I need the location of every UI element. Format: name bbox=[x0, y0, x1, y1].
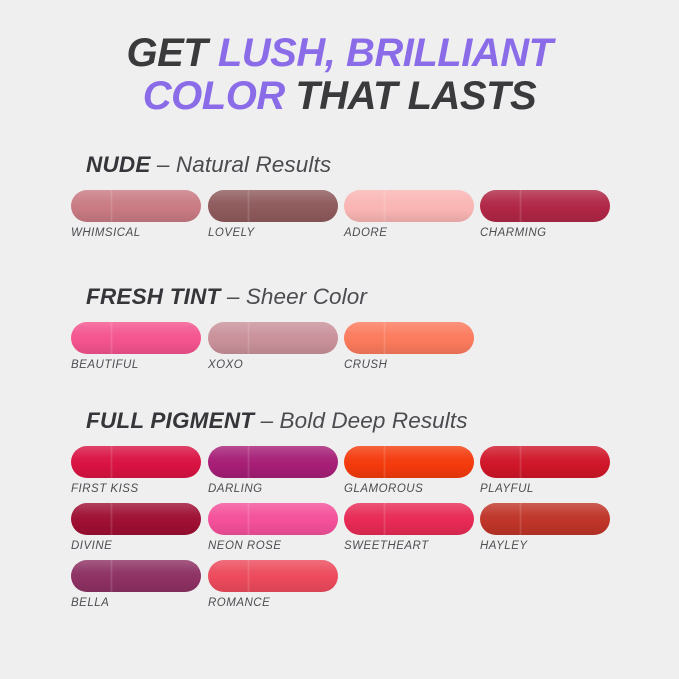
shade-cell[interactable]: GLAMOROUS bbox=[344, 446, 474, 495]
shade-cell[interactable]: NEON ROSE bbox=[208, 503, 338, 552]
shade-name-label: BELLA bbox=[71, 597, 201, 609]
shade-swatch[interactable] bbox=[480, 190, 610, 222]
shade-name-label: NEON ROSE bbox=[208, 540, 338, 552]
shade-section-nude: NUDE – Natural ResultsWHIMSICALLOVELYADO… bbox=[0, 152, 679, 247]
shade-swatch[interactable] bbox=[344, 446, 474, 478]
shade-swatch[interactable] bbox=[208, 446, 338, 478]
shade-cell[interactable]: DIVINE bbox=[71, 503, 201, 552]
page-title-lush-brilliant: LUSH, BRILLIANT bbox=[218, 31, 553, 75]
section-category-label: FRESH TINT bbox=[86, 284, 221, 309]
shade-cell[interactable]: WHIMSICAL bbox=[71, 190, 201, 239]
section-heading: FULL PIGMENT – Bold Deep Results bbox=[0, 408, 679, 434]
page-title-line-2: COLOR THAT LASTS bbox=[0, 75, 679, 118]
shade-section-fresh-tint: FRESH TINT – Sheer ColorBEAUTIFULXOXOCRU… bbox=[0, 284, 679, 379]
shade-swatch[interactable] bbox=[344, 322, 474, 354]
shade-cell[interactable]: PLAYFUL bbox=[480, 446, 610, 495]
shade-swatch[interactable] bbox=[71, 190, 201, 222]
shade-name-label: ADORE bbox=[344, 227, 474, 239]
shade-cell[interactable]: LOVELY bbox=[208, 190, 338, 239]
shade-row: BELLAROMANCE bbox=[0, 560, 679, 617]
page-title-color: COLOR bbox=[143, 74, 285, 118]
shade-name-label: SWEETHEART bbox=[344, 540, 474, 552]
shade-name-label: CRUSH bbox=[344, 359, 474, 371]
shade-swatch[interactable] bbox=[71, 446, 201, 478]
shade-cell[interactable]: XOXO bbox=[208, 322, 338, 371]
shade-name-label: HAYLEY bbox=[480, 540, 610, 552]
section-subtitle-label: – Sheer Color bbox=[221, 284, 367, 309]
shade-cell[interactable]: BEAUTIFUL bbox=[71, 322, 201, 371]
shade-name-label: XOXO bbox=[208, 359, 338, 371]
section-subtitle-label: – Bold Deep Results bbox=[254, 408, 467, 433]
shade-cell[interactable]: ADORE bbox=[344, 190, 474, 239]
shade-swatch[interactable] bbox=[208, 503, 338, 535]
page-title-line-1: GET LUSH, BRILLIANT bbox=[0, 32, 679, 75]
shade-name-label: ROMANCE bbox=[208, 597, 338, 609]
shade-swatch[interactable] bbox=[480, 503, 610, 535]
shade-section-full-pigment: FULL PIGMENT – Bold Deep ResultsFIRST KI… bbox=[0, 408, 679, 617]
shade-swatch[interactable] bbox=[344, 503, 474, 535]
shade-name-label: DIVINE bbox=[71, 540, 201, 552]
shade-cell[interactable]: HAYLEY bbox=[480, 503, 610, 552]
shade-cell[interactable]: ROMANCE bbox=[208, 560, 338, 609]
shade-swatch[interactable] bbox=[71, 503, 201, 535]
shade-rows: FIRST KISSDARLINGGLAMOROUSPLAYFULDIVINEN… bbox=[0, 446, 679, 617]
shade-name-label: PLAYFUL bbox=[480, 483, 610, 495]
shade-swatch[interactable] bbox=[480, 446, 610, 478]
shade-name-label: LOVELY bbox=[208, 227, 338, 239]
shade-swatch[interactable] bbox=[71, 560, 201, 592]
shade-row: DIVINENEON ROSESWEETHEARTHAYLEY bbox=[0, 503, 679, 560]
section-category-label: FULL PIGMENT bbox=[86, 408, 254, 433]
shade-name-label: WHIMSICAL bbox=[71, 227, 201, 239]
section-heading: NUDE – Natural Results bbox=[0, 152, 679, 178]
shade-swatch[interactable] bbox=[208, 190, 338, 222]
shade-swatch[interactable] bbox=[208, 322, 338, 354]
section-category-label: NUDE bbox=[86, 152, 151, 177]
shade-chart-poster: GET LUSH, BRILLIANT COLOR THAT LASTS NUD… bbox=[0, 0, 679, 679]
shade-swatch[interactable] bbox=[344, 190, 474, 222]
shade-row: FIRST KISSDARLINGGLAMOROUSPLAYFUL bbox=[0, 446, 679, 503]
shade-cell[interactable]: SWEETHEART bbox=[344, 503, 474, 552]
shade-swatch[interactable] bbox=[208, 560, 338, 592]
shade-cell[interactable]: CHARMING bbox=[480, 190, 610, 239]
shade-cell[interactable]: BELLA bbox=[71, 560, 201, 609]
shade-name-label: CHARMING bbox=[480, 227, 610, 239]
shade-cell[interactable]: FIRST KISS bbox=[71, 446, 201, 495]
page-title-that-lasts: THAT LASTS bbox=[285, 74, 537, 118]
shade-cell[interactable]: CRUSH bbox=[344, 322, 474, 371]
shade-name-label: DARLING bbox=[208, 483, 338, 495]
shade-name-label: FIRST KISS bbox=[71, 483, 201, 495]
section-subtitle-label: – Natural Results bbox=[151, 152, 332, 177]
shade-name-label: GLAMOROUS bbox=[344, 483, 474, 495]
page-title-get: GET bbox=[126, 31, 217, 75]
shade-rows: WHIMSICALLOVELYADORECHARMING bbox=[0, 190, 679, 247]
shade-rows: BEAUTIFULXOXOCRUSH bbox=[0, 322, 679, 379]
shade-name-label: BEAUTIFUL bbox=[71, 359, 201, 371]
shade-row: BEAUTIFULXOXOCRUSH bbox=[0, 322, 679, 379]
section-heading: FRESH TINT – Sheer Color bbox=[0, 284, 679, 310]
shade-swatch[interactable] bbox=[71, 322, 201, 354]
shade-cell[interactable]: DARLING bbox=[208, 446, 338, 495]
page-title: GET LUSH, BRILLIANT COLOR THAT LASTS bbox=[0, 32, 679, 118]
shade-row: WHIMSICALLOVELYADORECHARMING bbox=[0, 190, 679, 247]
